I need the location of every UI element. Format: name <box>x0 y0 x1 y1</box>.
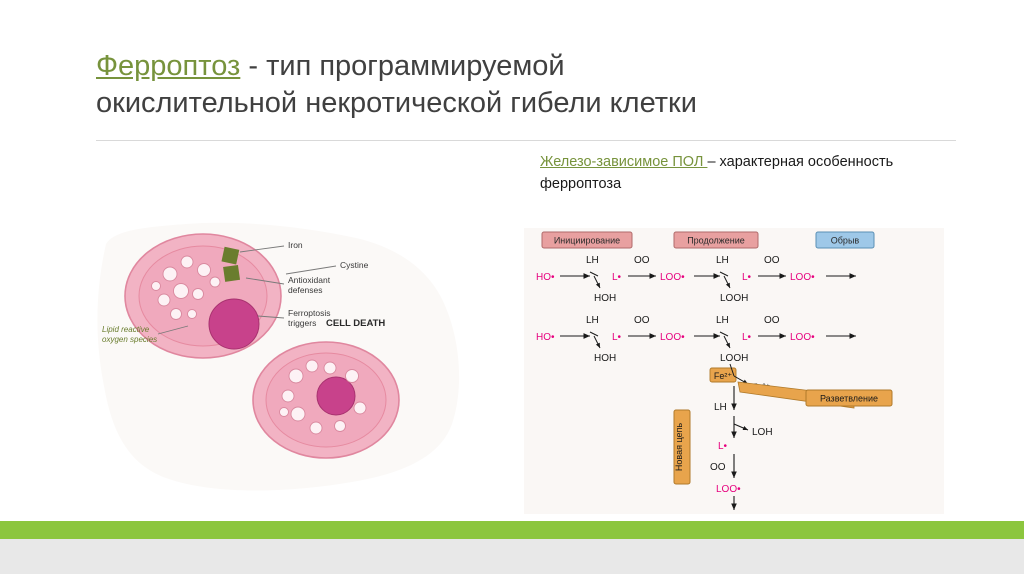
row1-lh-1: LH <box>586 255 599 266</box>
row2-loo-radical-1: LOO• <box>660 332 685 343</box>
label-antioxidant-line1: Antioxidant <box>288 275 331 285</box>
stage-box-initiation-label: Инициирование <box>554 236 620 246</box>
stage-box-termination-label: Обрыв <box>831 236 860 246</box>
fe2-label: Fe²⁺ <box>714 371 733 381</box>
new-chain-box: Новая цепь <box>674 410 690 484</box>
branching-label: Разветвление <box>820 394 878 404</box>
row1-loo-radical-2: LOO• <box>790 272 815 283</box>
cell-death-diagram: Iron Cystine Antioxidant defenses Ferrop… <box>88 196 480 496</box>
lipid-peroxidation-pathway-diagram: Инициирование Продолжение Обрыв HO• LH H… <box>524 228 944 514</box>
branching-box: Разветвление <box>806 390 892 406</box>
row1-looh-1: LOOH <box>720 293 748 304</box>
page-title-rest: - тип программируемой <box>240 50 564 82</box>
label-antioxidant-line2: defenses <box>288 285 323 295</box>
page-title-accent: Ферроптоз <box>96 50 240 82</box>
row2-lh-1: LH <box>586 315 599 326</box>
row1-oo-2: OO <box>764 255 780 266</box>
label-ferroptosis-triggers-line2: triggers <box>288 318 316 328</box>
page-title-line2: окислительной некротической гибели клетк… <box>96 87 697 119</box>
row2-loo-radical-2: LOO• <box>790 332 815 343</box>
row1-oo-1: OO <box>634 255 650 266</box>
row1-ho-radical: HO• <box>536 272 555 283</box>
label-ferroptosis-triggers-line1: Ferroptosis <box>288 308 331 318</box>
caption-text: Железо-зависимое ПОЛ – характерная особе… <box>540 152 960 196</box>
row3-loh: LOH <box>752 427 773 438</box>
row2-looh-1: LOOH <box>720 353 748 364</box>
label-lipid-ros-line2: oxygen species <box>102 335 157 344</box>
row1-hoh-1: HOH <box>594 293 616 304</box>
stage-box-propagation: Продолжение <box>674 232 758 248</box>
row2-lh-2: LH <box>716 315 729 326</box>
row3-loo-radical: LOO• <box>716 484 741 495</box>
row3-l-radical: L• <box>718 441 728 452</box>
row2-oo-1: OO <box>634 315 650 326</box>
row1-l-radical-1: L• <box>612 272 622 283</box>
label-cystine: Cystine <box>340 260 369 270</box>
row1-loo-radical-1: LOO• <box>660 272 685 283</box>
label-iron: Iron <box>288 240 303 250</box>
title-divider <box>96 140 956 141</box>
row2-hoh-1: HOH <box>594 353 616 364</box>
label-cell-death: CELL DEATH <box>326 318 385 329</box>
row2-l-radical-1: L• <box>612 332 622 343</box>
stage-box-initiation: Инициирование <box>542 232 632 248</box>
upper-cell-nucleus <box>209 299 259 349</box>
row2-ho-radical: HO• <box>536 332 555 343</box>
new-chain-label: Новая цепь <box>674 423 684 471</box>
row3-oo: OO <box>710 462 726 473</box>
row1-lh-2: LH <box>716 255 729 266</box>
bottom-accent-bar <box>0 521 1024 539</box>
lower-cell-nucleus <box>317 377 355 415</box>
label-lipid-ros-line1: Lipid reactive <box>102 325 150 334</box>
stage-box-termination: Обрыв <box>816 232 874 248</box>
row1-l-radical-2: L• <box>742 272 752 283</box>
bottom-footer-bar <box>0 539 1024 574</box>
row2-l-radical-2: L• <box>742 332 752 343</box>
row3-lh: LH <box>714 402 727 413</box>
stage-box-propagation-label: Продолжение <box>687 236 745 246</box>
caption-link: Железо-зависимое ПОЛ <box>540 154 707 170</box>
row2-oo-2: OO <box>764 315 780 326</box>
page-title: Ферроптоз - тип программируемой окислите… <box>96 48 956 122</box>
